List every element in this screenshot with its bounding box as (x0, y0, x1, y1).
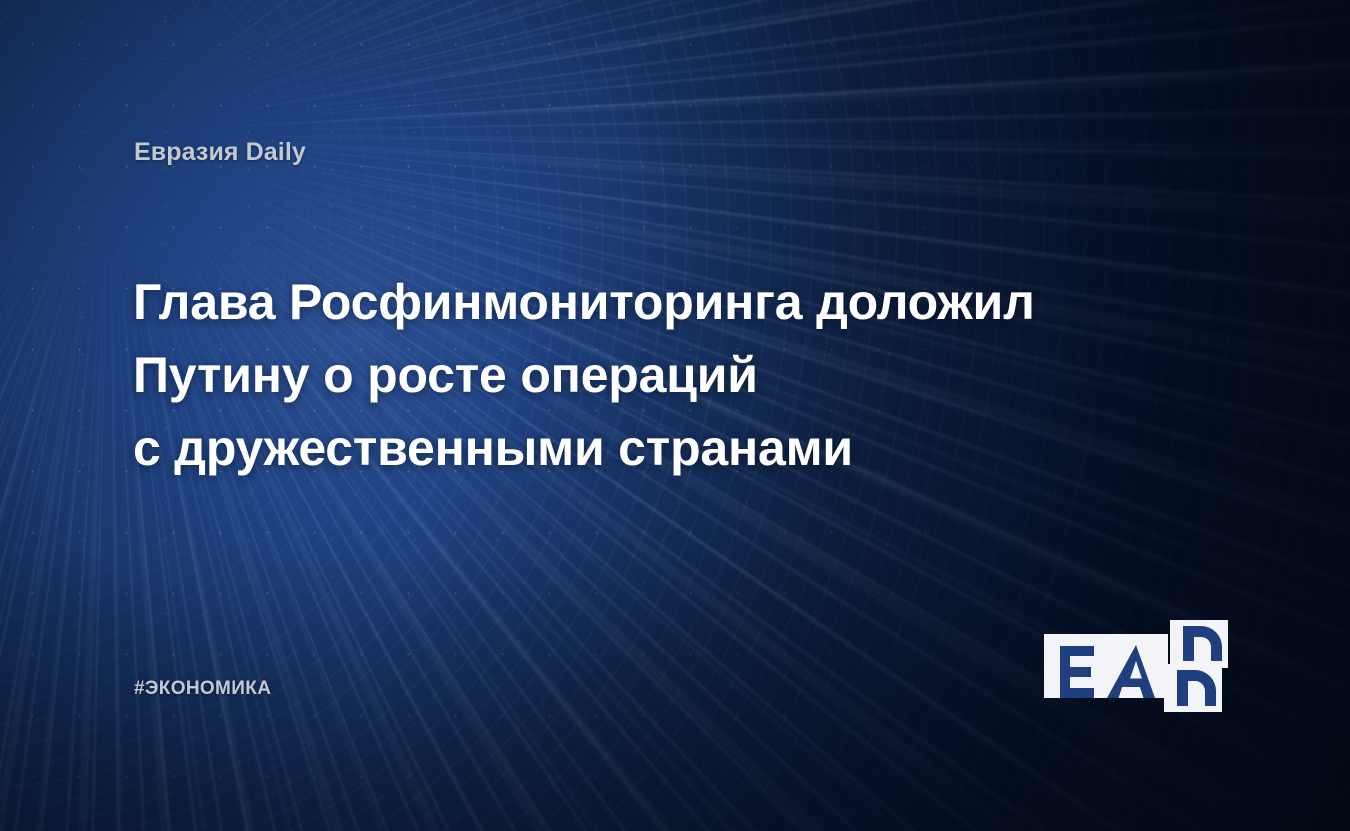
headline-line-1: Глава Росфинмониторинга доложил (133, 266, 1153, 339)
card-content: Евразия Daily Глава Росфинмониторинга до… (0, 0, 1350, 831)
logo-tile-d (1164, 620, 1228, 712)
brand-name: Евразия Daily (134, 138, 306, 167)
headline-line-2: Путину о росте операций (133, 339, 1153, 412)
logo-tile-e (1044, 634, 1108, 698)
category-tag: #ЭКОНОМИКА (134, 678, 271, 700)
ead-logo (1044, 620, 1228, 712)
page-title: Глава Росфинмониторинга доложил Путину о… (133, 266, 1153, 485)
logo-tile-a (1104, 634, 1168, 698)
social-share-card: Евразия Daily Глава Росфинмониторинга до… (0, 0, 1350, 831)
headline-line-3: с дружественными странами (133, 412, 1153, 485)
